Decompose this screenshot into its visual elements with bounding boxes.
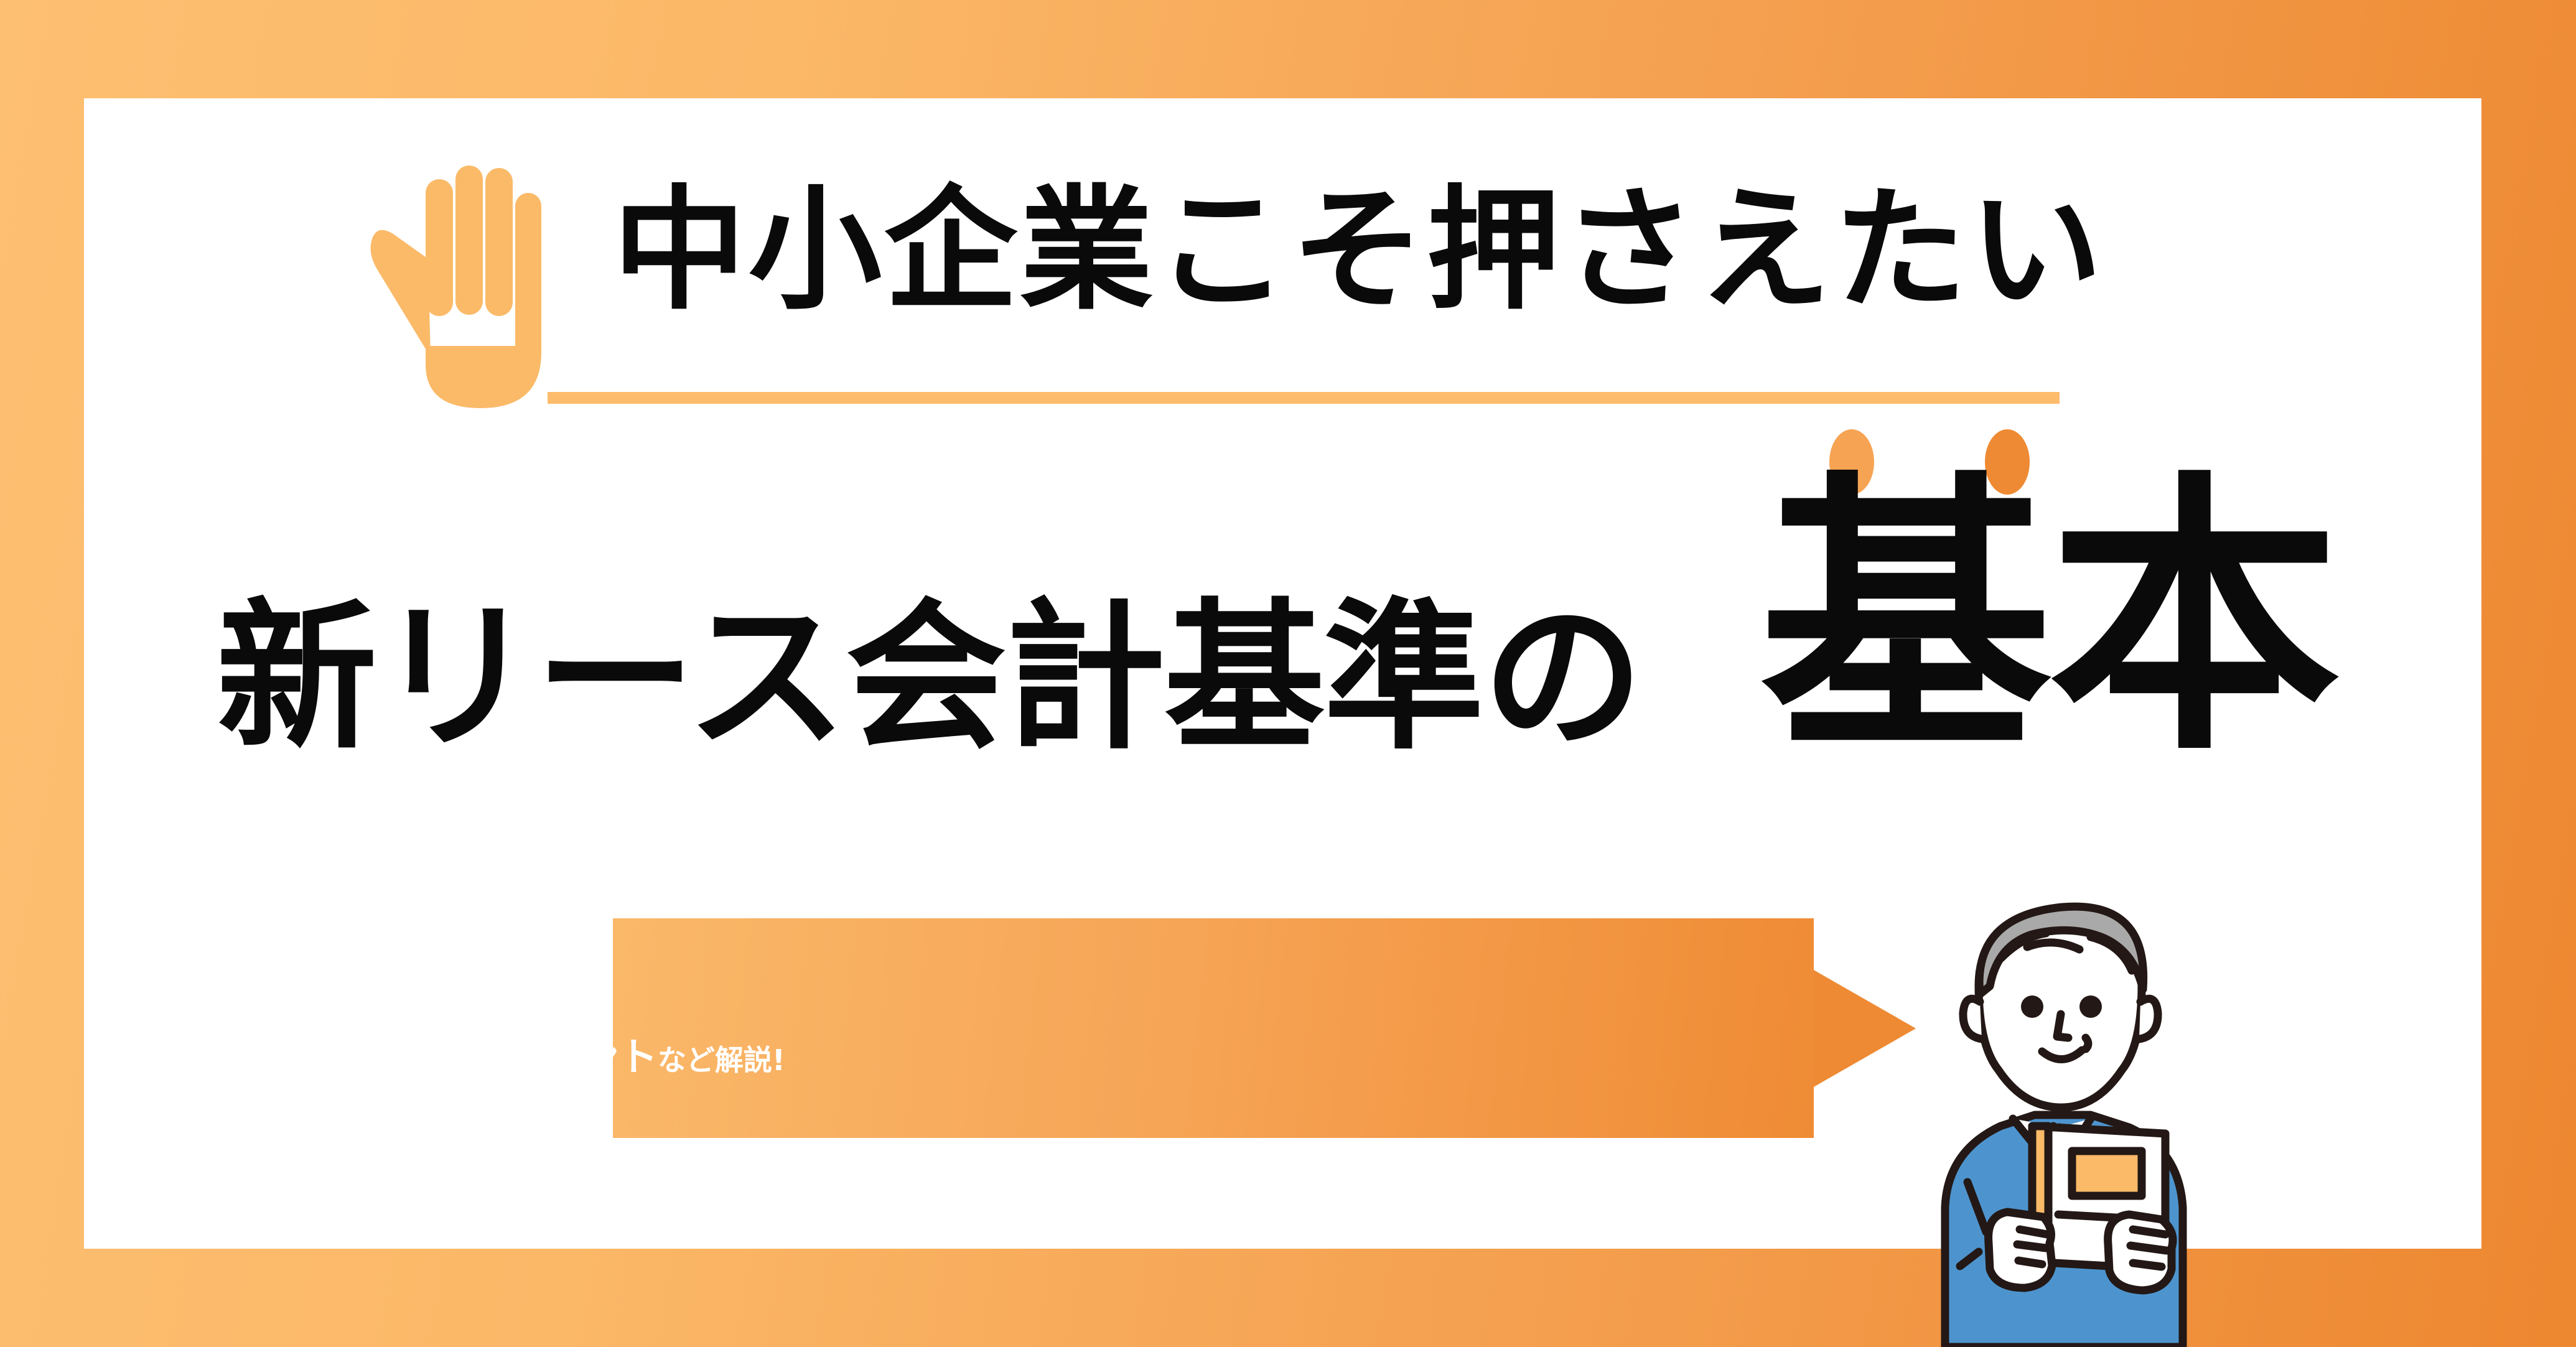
poster-root: 中小企業こそ押さえたい 新リース会計基準の 基本 中小企業の適用範囲と影響 リー… (0, 0, 2576, 1347)
callout-line-2: リース会計と税務処理のポイントなど解説! (81, 1038, 785, 1076)
callout-line-2-main: リース会計と税務処理のポイント (81, 1034, 658, 1079)
headline-main: 新リース会計基準の (217, 597, 1642, 758)
callout-line-2-suffix: など解説! (658, 1043, 785, 1077)
callout-banner (613, 918, 1916, 1138)
callout-body (613, 918, 1814, 1138)
callout-line-1: 中小企業の適用範囲と影響 (81, 971, 544, 1009)
person-holding-document-illustration (1885, 859, 2234, 1347)
raised-hand-icon (368, 159, 561, 408)
title-underline (548, 392, 2060, 404)
eyebrow-title: 中小企業こそ押さえたい (613, 184, 2105, 317)
headline-emphasis: 基本 (1760, 473, 2337, 765)
